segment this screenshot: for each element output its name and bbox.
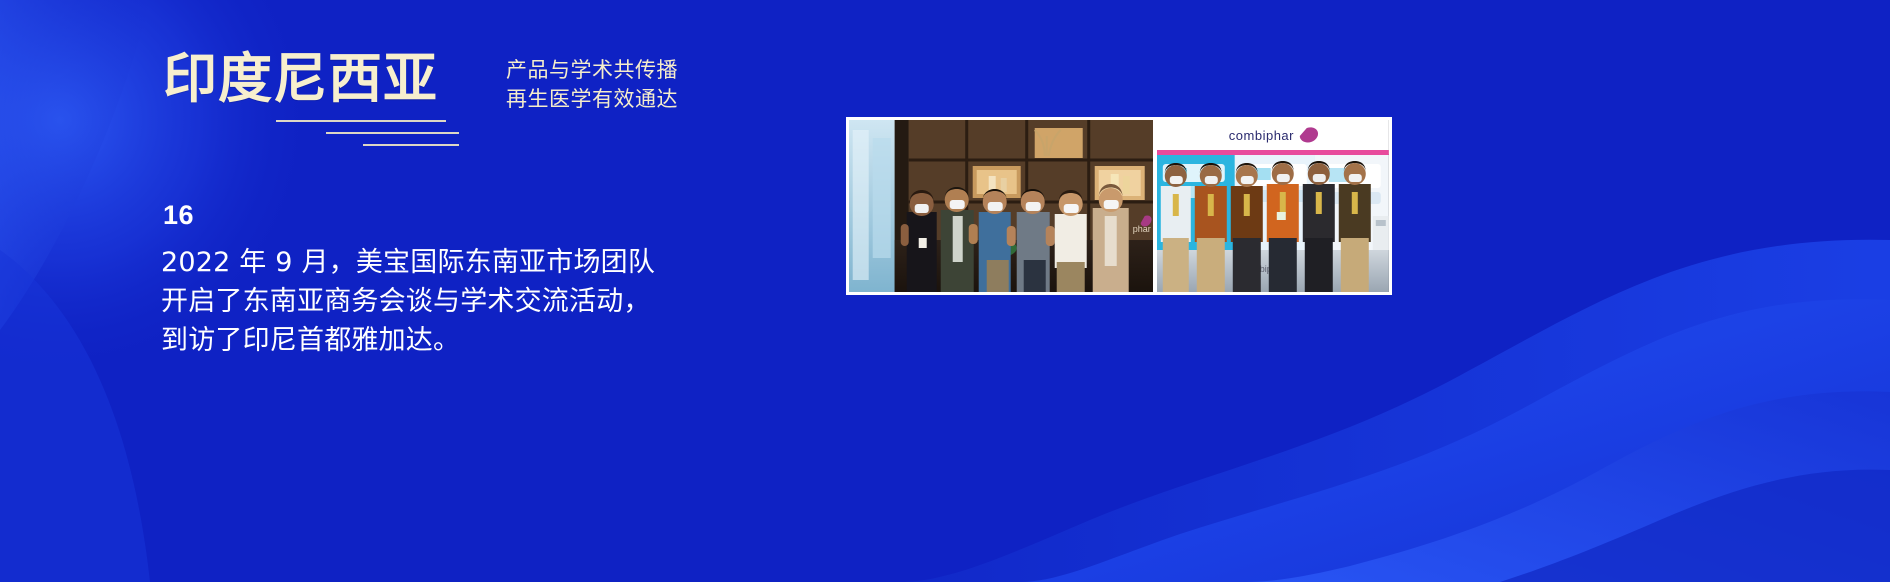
title-rule-2	[326, 132, 459, 134]
photo-gallery: phar	[846, 117, 1392, 295]
slogan-line-2: 再生医学有效通达	[506, 85, 678, 114]
booth-photo-illustration: combiphar combiphar	[1157, 120, 1389, 292]
body-line-3: 到访了印尼首都雅加达。	[161, 321, 761, 360]
slogan-block: 产品与学术共传播 再生医学有效通达	[506, 56, 678, 114]
title-rule-1	[276, 120, 446, 122]
title-rule-3	[363, 144, 459, 146]
body-line-1: 2022 年 9 月，美宝国际东南亚市场团队	[161, 243, 761, 282]
title-underline-decoration	[163, 120, 583, 160]
entry-body-text: 2022 年 9 月，美宝国际东南亚市场团队 开启了东南亚商务会谈与学术交流活动…	[161, 243, 761, 360]
slogan-line-1: 产品与学术共传播	[506, 56, 678, 85]
body-line-2: 开启了东南亚商务会谈与学术交流活动，	[161, 282, 761, 321]
left-content-column: 印度尼西亚 产品与学术共传播 再生医学有效通达 16 2022 年 9 月，美宝…	[0, 0, 820, 582]
entry-number: 16	[163, 200, 194, 230]
page-title: 印度尼西亚	[163, 50, 438, 108]
slide-canvas: 印度尼西亚 产品与学术共传播 再生医学有效通达 16 2022 年 9 月，美宝…	[0, 0, 1890, 582]
showroom-photo-illustration: phar	[849, 120, 1153, 292]
title-block: 印度尼西亚	[163, 50, 803, 160]
svg-text:combiphar: combiphar	[1229, 128, 1294, 143]
exhibition-booth-group-photo: combiphar combiphar	[1157, 120, 1389, 292]
showroom-group-photo: phar	[849, 120, 1153, 292]
